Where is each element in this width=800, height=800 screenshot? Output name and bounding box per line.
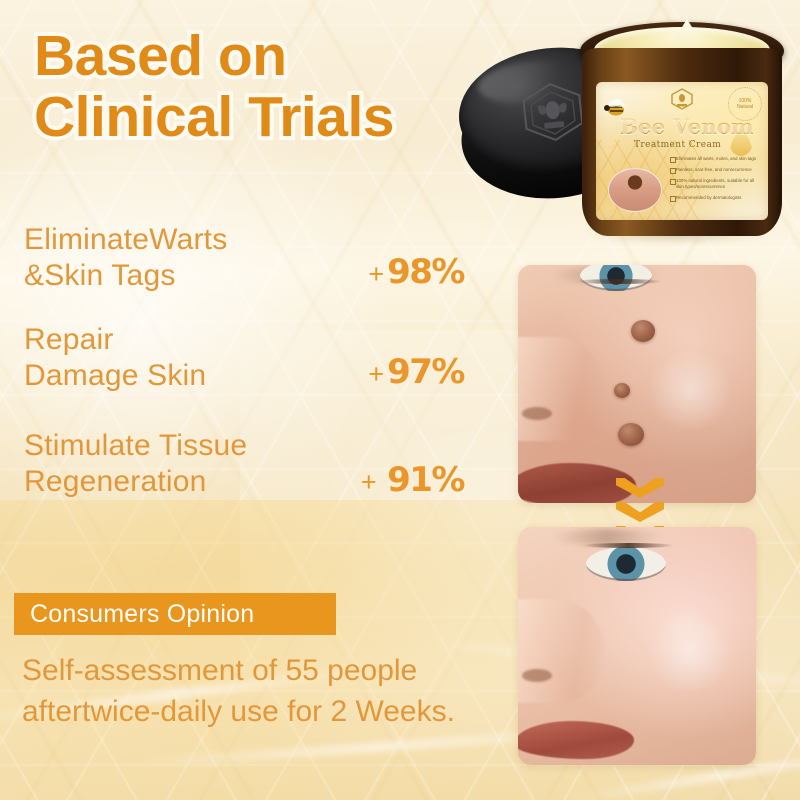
cheek-highlight bbox=[642, 613, 738, 691]
benefit-value: + 91% bbox=[361, 460, 464, 500]
consumers-opinion-note: Self-assessment of 55 people aftertwice-… bbox=[22, 650, 472, 732]
consumers-opinion-label: Consumers Opinion bbox=[14, 600, 254, 629]
label-bullet-item: Painless, scar-free, and nonrecurrence bbox=[670, 167, 762, 173]
label-bullet-list: Eliminates all warts, moles, and skin ta… bbox=[670, 156, 762, 206]
skin-tag-mole bbox=[618, 423, 644, 446]
benefit-value: +97% bbox=[368, 352, 464, 394]
poster-canvas: Based on Clinical Trials EliminateWarts … bbox=[0, 0, 800, 800]
benefit-row: Stimulate Tissue Regeneration + 91% bbox=[24, 428, 464, 500]
nose bbox=[518, 599, 604, 703]
chevron-down-icon bbox=[616, 478, 664, 498]
benefit-percent: 98% bbox=[387, 252, 464, 292]
benefit-label: EliminateWarts &Skin Tags bbox=[24, 222, 227, 294]
jar-glass: 100% Natural Bee Venom Treatment Cream E… bbox=[582, 48, 782, 236]
label-bullet-item: 100% natural ingredients, suitable for a… bbox=[670, 178, 762, 190]
skin-tag-mole bbox=[631, 320, 655, 342]
benefit-row: Repair Damage Skin +97% bbox=[24, 322, 464, 394]
benefit-plus-sign: + bbox=[368, 259, 384, 289]
benefit-row: EliminateWarts &Skin Tags +98% bbox=[24, 222, 464, 294]
benefit-plus-sign: + bbox=[368, 359, 384, 389]
product-jar: 100% Natural Bee Venom Treatment Cream E… bbox=[452, 18, 792, 248]
benefit-label-line-1: Repair bbox=[24, 323, 114, 356]
benefit-label-line-1: EliminateWarts bbox=[24, 223, 227, 256]
product-label: 100% Natural Bee Venom Treatment Cream E… bbox=[596, 82, 768, 220]
benefit-label-line-2: &Skin Tags bbox=[24, 258, 227, 294]
benefit-list: EliminateWarts &Skin Tags +98% Repair Da… bbox=[24, 222, 464, 528]
label-skin-diagram bbox=[608, 168, 662, 212]
benefit-percent: 97% bbox=[387, 352, 464, 392]
eyelashes bbox=[582, 543, 674, 548]
nostril bbox=[522, 407, 552, 420]
benefit-label-line-1: Stimulate Tissue bbox=[24, 429, 247, 462]
benefit-value: +98% bbox=[368, 252, 464, 294]
before-photo bbox=[518, 265, 756, 503]
skin-tag-mole bbox=[614, 383, 630, 398]
benefit-percent: 91% bbox=[387, 460, 464, 500]
product-brand-name: Bee Venom bbox=[620, 114, 754, 139]
headline-line-1: Based on bbox=[34, 26, 464, 87]
benefit-plus-sign: + bbox=[361, 467, 377, 497]
consumers-opinion-banner: Consumers Opinion bbox=[14, 593, 336, 635]
benefit-label: Stimulate Tissue Regeneration bbox=[24, 428, 247, 500]
nostril bbox=[522, 669, 552, 682]
headline-line-2: Clinical Trials bbox=[34, 87, 464, 148]
page-title: Based on Clinical Trials bbox=[34, 26, 464, 148]
label-bullet-item: Recommended by dermatologists bbox=[670, 195, 762, 201]
benefit-label-line-2: Damage Skin bbox=[24, 358, 206, 394]
jar-body: 100% Natural Bee Venom Treatment Cream E… bbox=[572, 18, 792, 236]
badge-line-2: Natural bbox=[737, 104, 753, 110]
label-hexagon-emblem-icon bbox=[670, 88, 694, 110]
after-photo bbox=[518, 527, 756, 765]
eye bbox=[586, 547, 666, 581]
nose bbox=[518, 337, 604, 441]
label-bullet-item: Eliminates all warts, moles, and skin ta… bbox=[670, 156, 762, 162]
chevron-down-icon bbox=[616, 502, 664, 522]
cheek-highlight bbox=[642, 351, 738, 429]
benefit-label-line-2: Regeneration bbox=[24, 464, 247, 500]
eyelashes bbox=[576, 279, 662, 284]
benefit-label: Repair Damage Skin bbox=[24, 322, 206, 394]
lips bbox=[518, 721, 634, 759]
product-subtitle: Treatment Cream bbox=[634, 140, 721, 150]
